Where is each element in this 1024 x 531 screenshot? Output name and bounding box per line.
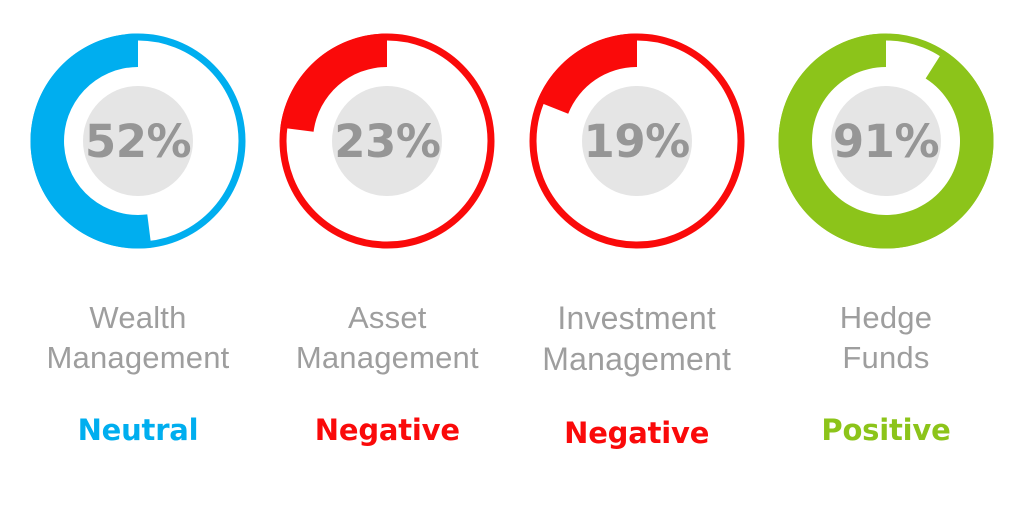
donut-gauge-svg [23, 26, 253, 256]
gauge-column-asset-management: 23% Asset Management Negative [263, 0, 511, 531]
gauge-inner-disc [582, 86, 692, 196]
donut-gauge-wealth-management[interactable]: 52% [23, 26, 253, 256]
gauge-sentiment-label-asset-management: Negative [315, 413, 460, 447]
donut-gauge-svg [272, 26, 502, 256]
gauge-column-investment-management: 19% Investment Management Negative [513, 0, 761, 531]
infographic-root: 52% Wealth Management Neutral 23% Asset … [0, 0, 1024, 531]
donut-gauge-svg [771, 26, 1001, 256]
donut-gauge-asset-management[interactable]: 23% [272, 26, 502, 256]
gauge-column-wealth-management: 52% Wealth Management Neutral [14, 0, 262, 531]
gauge-category-label-asset-management: Asset Management [296, 298, 479, 377]
gauge-inner-disc [83, 86, 193, 196]
gauge-column-hedge-funds: 91% Hedge Funds Positive [762, 0, 1010, 531]
gauge-row: 52% Wealth Management Neutral 23% Asset … [0, 0, 1024, 531]
donut-gauge-svg [522, 26, 752, 256]
gauge-inner-disc [831, 86, 941, 196]
gauge-sentiment-label-investment-management: Negative [564, 416, 709, 450]
gauge-category-label-investment-management: Investment Management [542, 298, 731, 380]
donut-gauge-hedge-funds[interactable]: 91% [771, 26, 1001, 256]
gauge-category-label-wealth-management: Wealth Management [47, 298, 230, 377]
gauge-sentiment-label-wealth-management: Neutral [78, 413, 199, 447]
donut-gauge-investment-management[interactable]: 19% [522, 26, 752, 256]
gauge-category-label-hedge-funds: Hedge Funds [840, 298, 932, 377]
gauge-sentiment-label-hedge-funds: Positive [821, 413, 950, 447]
gauge-inner-disc [332, 86, 442, 196]
